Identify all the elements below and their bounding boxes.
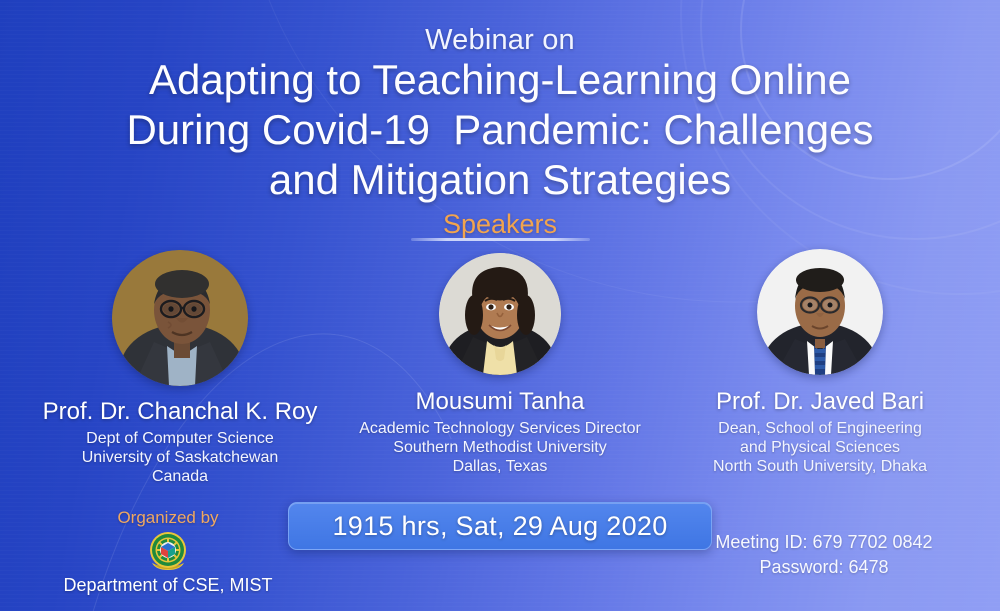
speaker-card: Mousumi Tanha Academic Technology Servic…: [335, 253, 665, 476]
organized-by-label: Organized by: [48, 508, 288, 528]
avatar: [757, 249, 883, 375]
webinar-eyebrow: Webinar on: [0, 24, 1000, 57]
portrait-javed-bari-icon: [757, 249, 883, 375]
speaker-card: Prof. Dr. Chanchal K. Roy Dept of Comput…: [15, 250, 345, 486]
organizer-block: Organized by: [48, 508, 288, 596]
meeting-id: Meeting ID: 679 7702 0842: [674, 530, 974, 555]
portrait-mousumi-tanha-icon: [439, 253, 561, 375]
page-title: Adapting to Teaching-Learning Online Dur…: [0, 55, 1000, 205]
speaker-card: Prof. Dr. Javed Bari Dean, School of Eng…: [655, 249, 985, 476]
speaker-affiliation: Dean, School of Engineering and Physical…: [655, 419, 985, 476]
organizer-department: Department of CSE, MIST: [48, 575, 288, 596]
mist-crest-svg: [146, 530, 190, 574]
affiliation-line: North South University, Dhaka: [655, 457, 985, 476]
webinar-poster: Webinar on Adapting to Teaching-Learning…: [0, 0, 1000, 611]
speaker-name: Prof. Dr. Javed Bari: [655, 388, 985, 416]
schedule-datetime: 1915 hrs, Sat, 29 Aug 2020: [332, 511, 667, 542]
speaker-name: Prof. Dr. Chanchal K. Roy: [15, 398, 345, 426]
affiliation-line: Dean, School of Engineering: [655, 419, 985, 438]
portrait-chanchal-k-roy-icon: [112, 250, 248, 386]
affiliation-line: and Physical Sciences: [655, 438, 985, 457]
avatar: [112, 250, 248, 386]
affiliation-line: Academic Technology Services Director: [335, 419, 665, 438]
title-line-2: During Covid-19 Pandemic: Challenges: [0, 105, 1000, 155]
title-line-1: Adapting to Teaching-Learning Online: [0, 55, 1000, 105]
title-line-3: and Mitigation Strategies: [0, 155, 1000, 205]
affiliation-line: Southern Methodist University: [335, 438, 665, 457]
affiliation-line: Dept of Computer Science: [15, 429, 345, 448]
schedule-badge[interactable]: 1915 hrs, Sat, 29 Aug 2020: [288, 502, 712, 550]
speakers-heading: Speakers: [0, 209, 1000, 240]
affiliation-line: Canada: [15, 467, 345, 486]
affiliation-line: Dallas, Texas: [335, 457, 665, 476]
meeting-password: Password: 6478: [674, 555, 974, 580]
affiliation-line: University of Saskatchewan: [15, 448, 345, 467]
speaker-name: Mousumi Tanha: [335, 388, 665, 416]
mist-crest-logo-icon: [146, 530, 190, 574]
speaker-affiliation: Dept of Computer Science University of S…: [15, 429, 345, 486]
speakers-heading-underline: [411, 238, 590, 241]
speaker-affiliation: Academic Technology Services Director So…: [335, 419, 665, 476]
avatar: [439, 253, 561, 375]
meeting-credentials: Meeting ID: 679 7702 0842 Password: 6478: [674, 530, 974, 580]
